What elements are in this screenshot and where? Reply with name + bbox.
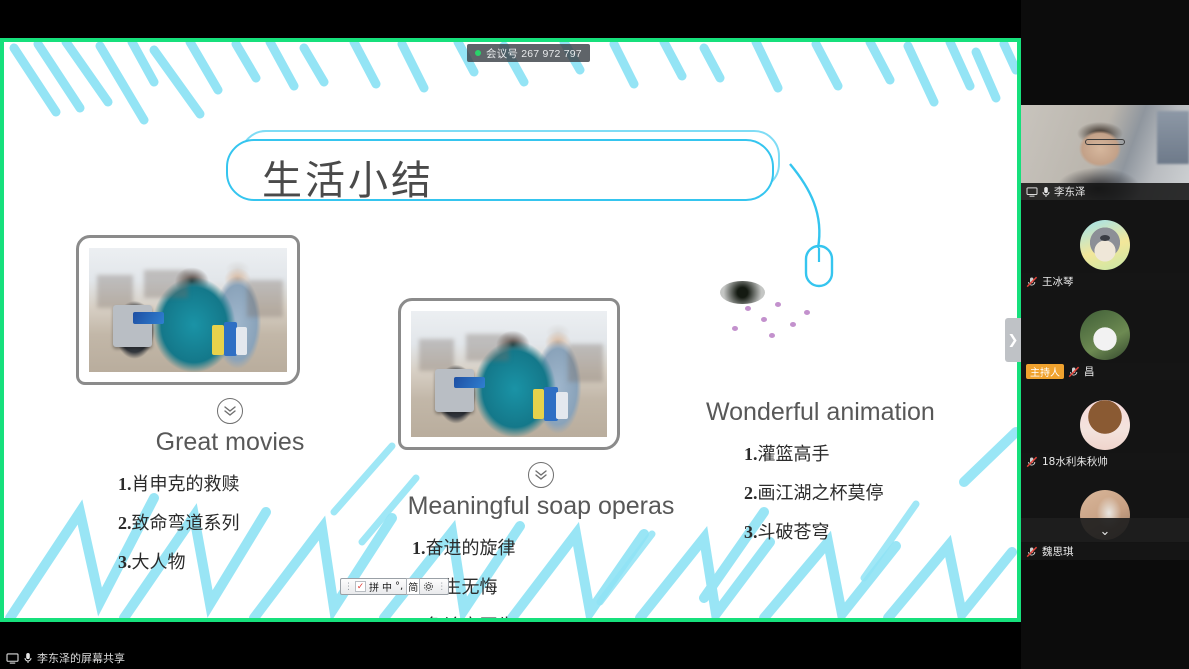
participant-scroll-down-button[interactable]: ⌄ [1021,518,1189,542]
column-heading: Wonderful animation [692,398,992,427]
ime-simplified-button[interactable]: 简 [406,578,420,595]
column-heading: Great movies [100,428,360,457]
list-item-text: 大人物 [132,552,186,573]
participant-namebar: 王冰琴 [1021,273,1189,290]
list-item-text: 肖申克的救赎 [132,474,240,495]
avatar [1080,310,1130,360]
list-item-number: 1. [744,444,758,464]
chevron-right-icon: ❯ [1008,332,1019,348]
meeting-window: 生活小结 [0,0,1189,669]
participant-tile[interactable]: 魏思琪 ⌄ [1021,470,1189,560]
list-item-number: 3. [118,552,132,572]
participant-namebar: 魏思琪 [1021,543,1189,560]
photo-checkout-scene-2 [411,311,607,437]
participant-name: 昌 [1084,364,1095,379]
presentation-slide: 生活小结 [4,42,1017,618]
participant-sidebar: 李东泽 王冰琴 主持人 [1021,0,1189,669]
participant-tile[interactable]: 18水利朱秋帅 [1021,380,1189,470]
participant-tile[interactable]: 李东泽 [1021,105,1189,200]
ime-punctuation-button[interactable]: °, [395,581,403,592]
background-detail [1157,111,1189,164]
list-item: 3.斗破苍穹 [744,518,992,544]
mic-muted-icon [1026,546,1038,558]
slide-title-group: 生活小结 [226,130,786,208]
mic-icon [1042,186,1050,198]
slide-image-soap-operas [398,298,620,450]
recording-status-dot [475,50,481,56]
list-item: 1.奋进的旋律 [412,534,686,560]
mic-muted-icon [1068,366,1080,378]
list-item: 1.肖申克的救赎 [118,470,360,496]
chevron-down-icon: ⌄ [1100,524,1111,537]
screen-share-icon [1026,187,1038,197]
participant-name: 王冰琴 [1042,274,1074,289]
list-item-text: 灌篮高手 [758,444,830,465]
photo-anime-scene [708,270,912,360]
anime-logo-badge [720,281,765,304]
list-item-number: 3. [744,522,758,542]
eyeglasses-detail [1085,139,1125,145]
mic-icon [24,652,32,664]
mic-muted-icon [1026,456,1038,468]
list-item: 2.画江湖之杯莫停 [744,479,992,505]
list-item-number: 2. [744,483,758,503]
ime-toolbar[interactable]: ⋮ ✓ 拼 中 °, 简 ⋮ [340,578,449,595]
list-item-text: 画江湖之杯莫停 [758,483,884,504]
list-item-text: 急诊室医生 [426,616,516,618]
list-item-number: 1. [412,538,426,558]
column-animation: Wonderful animation 1.灌篮高手 2.画江湖之杯莫停 3.斗… [692,398,992,544]
participant-name: 魏思琪 [1042,544,1074,559]
list-item-number: 3. [412,616,426,618]
participant-namebar: 主持人 昌 [1021,363,1189,380]
avatar [1080,220,1130,270]
list-item-text: 致命弯道系列 [132,513,240,534]
ime-menu-button[interactable]: ⋮ [437,581,445,592]
page-title: 生活小结 [262,148,434,206]
list-item-number: 1. [118,474,132,494]
participant-name: 18水利朱秋帅 [1042,454,1108,469]
gear-icon[interactable] [423,581,434,592]
column-great-movies: Great movies 1.肖申克的救赎 2.致命弯道系列 3.大人物 [100,398,360,574]
meeting-id-label: 会议号 267 972 797 [486,46,582,61]
participant-namebar: 李东泽 [1021,183,1189,200]
ime-pinyin-mode-button[interactable]: 拼 [369,579,379,594]
list-item: 2.致命弯道系列 [118,509,360,535]
mic-muted-icon [1026,276,1038,288]
host-badge: 主持人 [1026,364,1064,379]
screen-share-statusbar: 李东泽的屏幕共享 [0,647,1021,669]
list-item-number: 2. [118,513,132,533]
slide-image-movies [76,235,300,385]
meeting-id-badge: 会议号 267 972 797 [467,44,590,62]
screen-share-icon [6,653,19,664]
list-item: 1.灌篮高手 [744,440,992,466]
double-chevron-down-icon [528,462,554,488]
ime-logo-icon[interactable]: ✓ [355,581,366,592]
list-item-text: 斗破苍穹 [758,522,830,543]
column-heading: Meaningful soap operas [396,492,686,521]
participant-namebar: 18水利朱秋帅 [1021,453,1189,470]
photo-checkout-scene-1 [89,248,287,372]
participant-tile[interactable]: 主持人 昌 [1021,290,1189,380]
slide-image-animation [708,270,912,360]
list-item: 3.急诊室医生 [412,612,686,618]
double-chevron-down-icon [217,398,243,424]
list-item: 2.一生无悔 [412,573,686,599]
list-item: 3.大人物 [118,548,360,574]
list-item-text: 奋进的旋律 [426,538,516,559]
shared-screen-region: 生活小结 [0,38,1021,622]
screen-share-label: 李东泽的屏幕共享 [37,650,125,666]
sidebar-collapse-toggle[interactable]: ❯ [1005,318,1021,362]
ime-chinese-mode-button[interactable]: 中 [382,579,392,594]
participant-name: 李东泽 [1054,184,1086,199]
participant-tile[interactable]: 王冰琴 [1021,200,1189,290]
ime-drag-handle[interactable]: ⋮ [344,581,352,592]
avatar [1080,400,1130,450]
